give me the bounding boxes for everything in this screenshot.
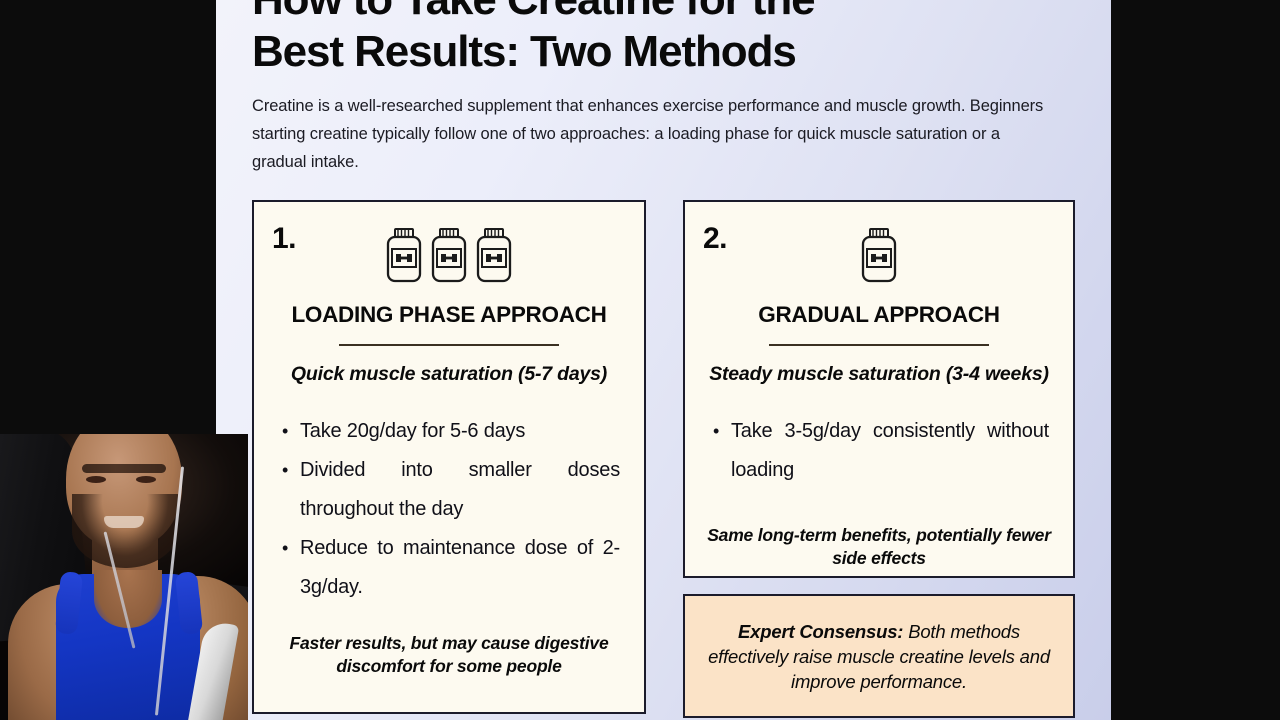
presenter-eye-left <box>86 476 106 483</box>
divider-right <box>769 344 989 346</box>
bullet-list-gradual: Take 3-5g/day consistently without loadi… <box>705 412 1053 490</box>
supplement-jar-icon <box>474 227 514 288</box>
presenter-brow <box>82 464 166 473</box>
card-loading-phase: 1. <box>252 200 646 714</box>
presenter-mouth <box>104 516 144 528</box>
expert-consensus-text: Expert Consensus: Both methods effective… <box>707 619 1051 694</box>
presenter-beard <box>72 494 178 568</box>
card-subtitle-loading: Quick muscle saturation (5-7 days) <box>274 363 624 386</box>
card-subtitle-gradual: Steady muscle saturation (3-4 weeks) <box>705 363 1053 386</box>
list-item: Divided into smaller doses throughout th… <box>300 451 620 529</box>
card-title-gradual: GRADUAL APPROACH <box>705 302 1053 328</box>
step-number-1: 1. <box>272 222 296 256</box>
presentation-slide: How to Take Creatine for the Best Result… <box>216 0 1111 720</box>
headline-line-2: Best Results: Two Methods <box>252 26 952 78</box>
card-title-loading: LOADING PHASE APPROACH <box>274 302 624 328</box>
intro-paragraph: Creatine is a well-researched supplement… <box>252 92 1057 176</box>
supplement-jar-icon <box>429 227 469 288</box>
list-item: Reduce to maintenance dose of 2-3g/day. <box>300 529 620 607</box>
supplement-jar-icon <box>859 227 899 288</box>
page-title: How to Take Creatine for the Best Result… <box>252 0 952 78</box>
expert-consensus-box: Expert Consensus: Both methods effective… <box>683 594 1075 718</box>
card-footnote-gradual: Same long-term benefits, potentially few… <box>705 524 1053 570</box>
card-gradual: 2. <box>683 200 1075 578</box>
jar-icon-group-left <box>274 226 624 288</box>
list-item: Take 20g/day for 5-6 days <box>300 412 620 451</box>
bullet-list-loading: Take 20g/day for 5-6 days Divided into s… <box>274 412 624 607</box>
supplement-jar-icon <box>384 227 424 288</box>
column-gradual: 2. <box>683 200 1075 718</box>
divider-left <box>339 344 559 346</box>
headline-line-1: How to Take Creatine for the <box>252 0 952 26</box>
step-number-2: 2. <box>703 222 727 256</box>
method-columns: 1. <box>252 200 1075 718</box>
column-loading-phase: 1. <box>252 200 646 714</box>
presenter-eye-right <box>136 476 156 483</box>
jar-icon-group-right <box>705 226 1053 288</box>
list-item: Take 3-5g/day consistently without loadi… <box>731 412 1049 490</box>
expert-consensus-label: Expert Consensus: <box>738 621 903 642</box>
card-footnote-loading: Faster results, but may cause digestive … <box>274 632 624 678</box>
presenter-webcam-overlay <box>0 434 248 720</box>
screen-capture: How to Take Creatine for the Best Result… <box>0 0 1280 720</box>
